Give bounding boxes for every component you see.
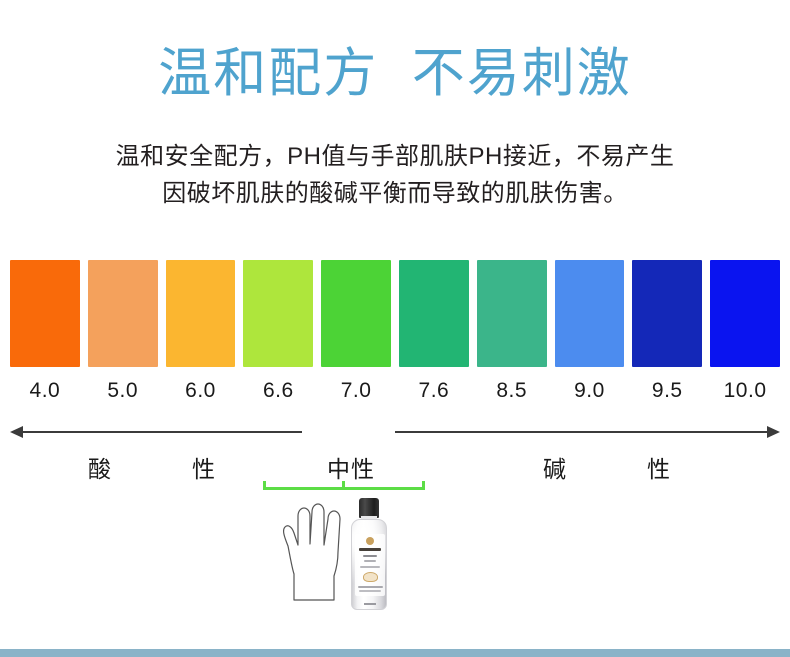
- ph-label-row: 4.0 5.0 6.0 6.6 7.0 7.6 8.5 9.0 9.5 10.0: [10, 379, 780, 403]
- bottom-accent-strip: [0, 649, 790, 657]
- acid-arrow-line: [22, 431, 302, 433]
- zone-label-acid-1: 酸: [88, 450, 112, 484]
- neutral-range-bracket: [263, 481, 425, 490]
- ph-swatch-row: [10, 260, 780, 367]
- ph-swatch: [710, 260, 780, 367]
- subtitle-line-2: 因破坏肌肤的酸碱平衡而导致的肌肤伤害。: [0, 175, 790, 212]
- ph-swatch: [321, 260, 391, 367]
- bottle-label-line: [363, 555, 377, 557]
- ph-value-label: 10.0: [710, 379, 780, 403]
- zone-label-band: 酸 性 中性 碱 性: [0, 450, 790, 484]
- page-title: 温和配方 不易刺激: [0, 44, 790, 104]
- ph-value-label: 8.5: [477, 379, 547, 403]
- bottle-body: [351, 519, 387, 610]
- bottle-label-line: [359, 590, 381, 592]
- sanitizer-bottle: [350, 498, 388, 610]
- bottle-label-line: [358, 586, 383, 588]
- alkali-arrow-line: [395, 431, 767, 433]
- infographic-page: 温和配方 不易刺激 温和安全配方，PH值与手部肌肤PH接近，不易产生 因破坏肌肤…: [0, 0, 790, 657]
- zone-label-alkali-1: 碱: [543, 450, 567, 484]
- scale-arrows: [0, 425, 790, 445]
- ph-value-label: 6.6: [243, 379, 313, 403]
- brand-logo-icon: [366, 537, 374, 545]
- bottle-label-line: [364, 560, 376, 562]
- bottle-volume-text: [364, 603, 376, 605]
- zone-label-acid-2: 性: [192, 450, 216, 484]
- arrow-left-icon: [10, 426, 23, 438]
- ph-swatch: [10, 260, 80, 367]
- subtitle-block: 温和安全配方，PH值与手部肌肤PH接近，不易产生 因破坏肌肤的酸碱平衡而导致的肌…: [0, 138, 790, 212]
- bracket-tick-mid: [342, 481, 345, 490]
- ph-value-label: 9.5: [632, 379, 702, 403]
- arrow-right-icon: [767, 426, 780, 438]
- bracket-tick-start: [263, 481, 266, 490]
- product-illustration: [272, 492, 432, 612]
- zone-label-alkali-2: 性: [647, 450, 671, 484]
- ph-value-label: 9.0: [555, 379, 625, 403]
- ph-value-label: 5.0: [88, 379, 158, 403]
- bottle-label: [355, 534, 385, 596]
- ph-swatch: [88, 260, 158, 367]
- ph-swatch: [632, 260, 702, 367]
- ph-swatch: [555, 260, 625, 367]
- zone-label-neutral: 中性: [327, 450, 375, 484]
- ph-value-label: 7.0: [321, 379, 391, 403]
- subtitle-line-1: 温和安全配方，PH值与手部肌肤PH接近，不易产生: [0, 138, 790, 175]
- ph-swatch: [243, 260, 313, 367]
- ph-swatch: [477, 260, 547, 367]
- ph-scale: 4.0 5.0 6.0 6.6 7.0 7.6 8.5 9.0 9.5 10.0: [10, 260, 780, 403]
- bottle-label-line: [360, 566, 380, 568]
- ph-value-label: 6.0: [166, 379, 236, 403]
- bottle-hand-icon: [363, 572, 378, 582]
- hand-outline-icon: [274, 500, 350, 604]
- bottle-cap: [359, 498, 379, 518]
- ph-value-label: 7.6: [399, 379, 469, 403]
- ph-swatch: [166, 260, 236, 367]
- ph-swatch: [399, 260, 469, 367]
- bottle-label-line: [359, 548, 381, 551]
- ph-value-label: 4.0: [10, 379, 80, 403]
- bracket-tick-end: [422, 481, 425, 490]
